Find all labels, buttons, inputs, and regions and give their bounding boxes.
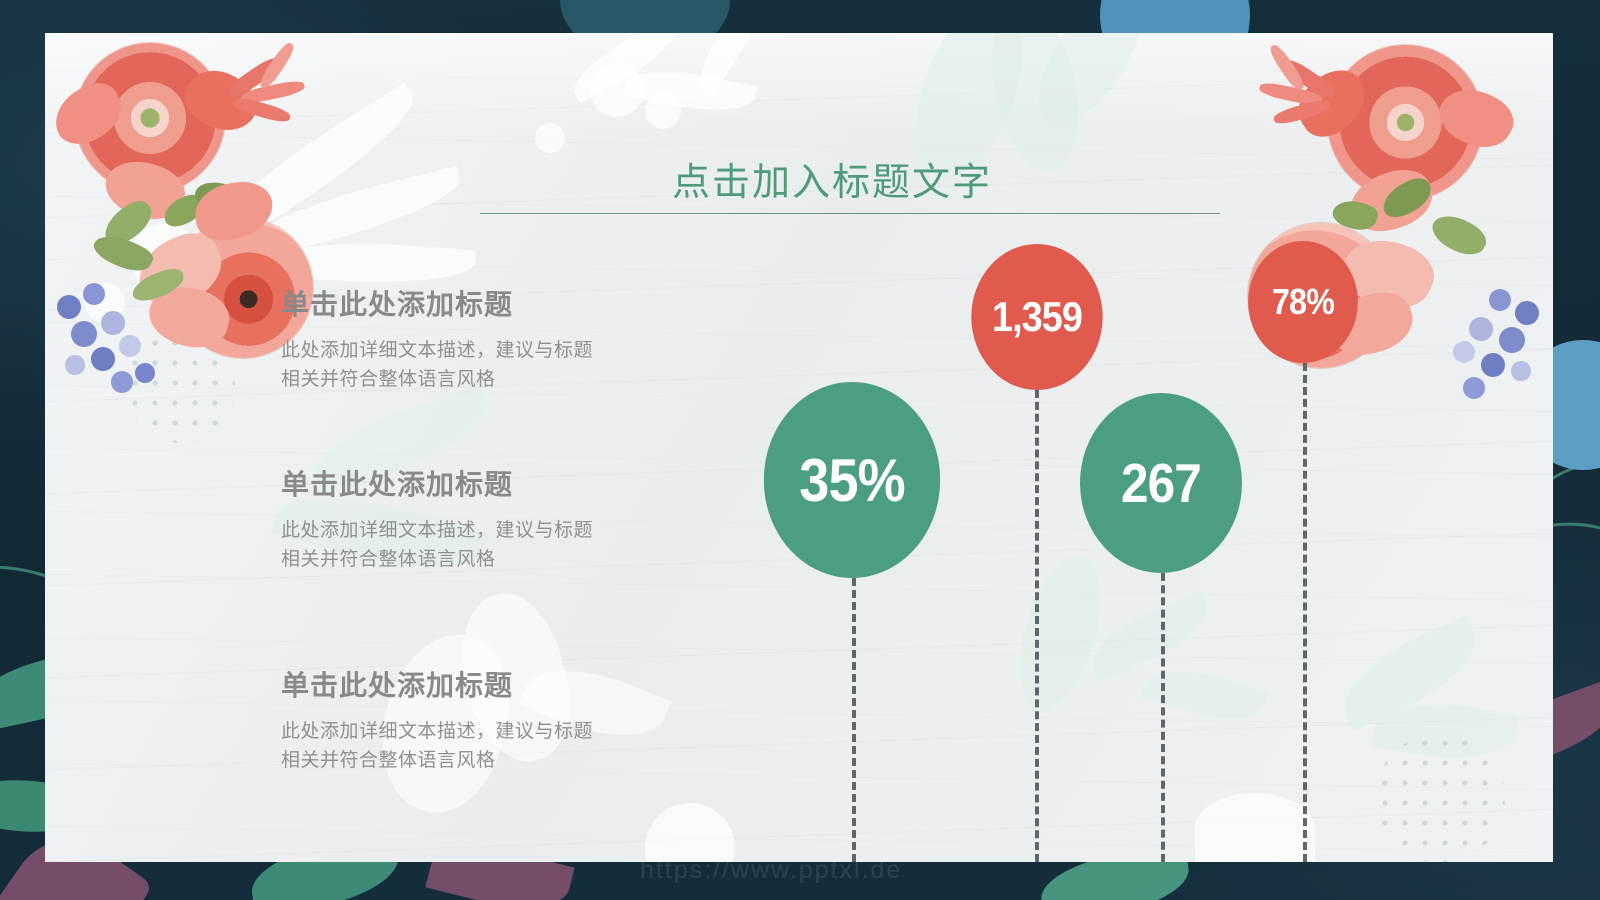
text-block-1-heading: 单击此处添加标题	[281, 283, 593, 323]
bubble-stem-4	[1303, 363, 1307, 862]
data-bubble-3[interactable]: 267	[1080, 393, 1242, 573]
text-block-3-heading: 单击此处添加标题	[281, 664, 593, 704]
content-card: 点击加入标题文字 单击此处添加标题 此处添加详细文本描述，建议与标题 相关并符合…	[45, 33, 1553, 862]
text-block-1-body-line2: 相关并符合整体语言风格	[281, 366, 593, 395]
data-bubble-2-value: 1,359	[992, 293, 1082, 341]
data-bubble-2[interactable]: 1,359	[971, 244, 1102, 390]
text-block-3-body: 此处添加详细文本描述，建议与标题 相关并符合整体语言风格	[281, 718, 593, 776]
data-bubble-3-value: 267	[1121, 451, 1201, 515]
data-bubble-1[interactable]: 35%	[764, 382, 940, 578]
text-block-1: 单击此处添加标题 此处添加详细文本描述，建议与标题 相关并符合整体语言风格	[281, 283, 593, 395]
bubble-stem-3	[1161, 573, 1165, 862]
text-block-2-body: 此处添加详细文本描述，建议与标题 相关并符合整体语言风格	[281, 517, 593, 575]
page-title: 点击加入标题文字	[672, 151, 992, 206]
source-watermark: https://www.pptxl.de	[640, 856, 902, 885]
data-bubble-4-value: 78%	[1272, 281, 1334, 323]
text-block-1-body: 此处添加详细文本描述，建议与标题 相关并符合整体语言风格	[281, 337, 593, 395]
text-block-1-body-line1: 此处添加详细文本描述，建议与标题	[281, 337, 593, 366]
text-block-3-body-line1: 此处添加详细文本描述，建议与标题	[281, 718, 593, 747]
text-block-2-body-line1: 此处添加详细文本描述，建议与标题	[281, 517, 593, 546]
text-block-2-heading: 单击此处添加标题	[281, 463, 593, 503]
slide-canvas: 点击加入标题文字 单击此处添加标题 此处添加详细文本描述，建议与标题 相关并符合…	[0, 0, 1600, 900]
title-underline	[480, 213, 1220, 214]
text-block-2: 单击此处添加标题 此处添加详细文本描述，建议与标题 相关并符合整体语言风格	[281, 463, 593, 575]
text-block-3: 单击此处添加标题 此处添加详细文本描述，建议与标题 相关并符合整体语言风格	[281, 664, 593, 776]
bubble-stem-2	[1035, 390, 1039, 862]
data-bubble-4[interactable]: 78%	[1248, 241, 1358, 363]
text-block-2-body-line2: 相关并符合整体语言风格	[281, 546, 593, 575]
data-bubble-1-value: 35%	[799, 446, 904, 515]
text-block-3-body-line2: 相关并符合整体语言风格	[281, 747, 593, 776]
bubble-stem-1	[852, 578, 856, 862]
